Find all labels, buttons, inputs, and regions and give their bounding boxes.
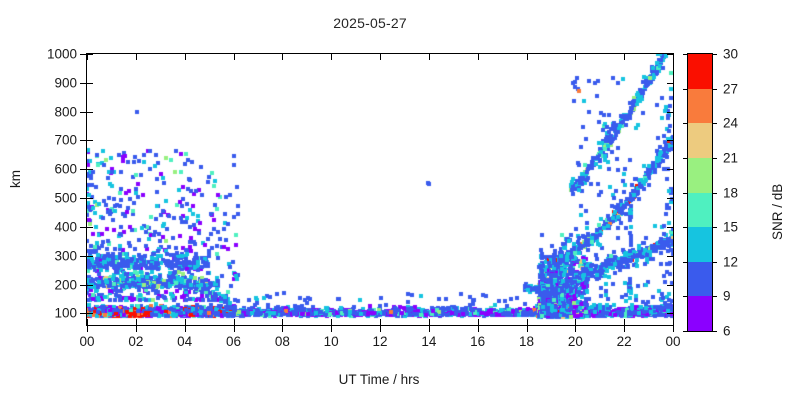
y-tick-1000	[80, 54, 87, 55]
x-tick-inner-5	[331, 319, 332, 325]
y-tick-label-600: 600	[54, 162, 77, 177]
colorbar-tick-left-12	[683, 262, 688, 263]
colorbar-label-6: 6	[723, 324, 731, 339]
colorbar-band-9-12	[688, 262, 712, 297]
y-tick-400	[80, 227, 87, 228]
y-tick-label-1000: 1000	[47, 47, 77, 62]
x-tick-inner-10	[575, 319, 576, 325]
y-tick-right-900	[667, 83, 673, 84]
x-tick-10	[575, 325, 576, 332]
x-tick-top-7	[429, 54, 430, 60]
x-tick-label-1: 02	[128, 334, 143, 349]
colorbar-band-18-21	[688, 158, 712, 193]
y-axis-title: km	[8, 170, 23, 188]
chart-title: 2025-05-27	[0, 15, 740, 31]
colorbar-band-6-9	[688, 296, 712, 331]
y-tick-600	[80, 169, 87, 170]
x-tick-top-6	[380, 54, 381, 60]
x-tick-top-9	[527, 54, 528, 60]
colorbar-label-24: 24	[723, 116, 738, 131]
y-tick-label-300: 300	[54, 248, 77, 263]
x-tick-5	[331, 325, 332, 332]
colorbar-tick-12	[712, 262, 717, 263]
y-tick-200	[80, 285, 87, 286]
y-tick-800	[80, 112, 87, 113]
x-tick-top-10	[575, 54, 576, 60]
colorbar-tick-left-15	[683, 227, 688, 228]
x-tick-11	[624, 325, 625, 332]
y-tick-right-200	[667, 285, 673, 286]
colorbar-tick-24	[712, 123, 717, 124]
y-tick-label-400: 400	[54, 219, 77, 234]
colorbar-tick-27	[712, 89, 717, 90]
x-tick-label-12: 00	[665, 334, 680, 349]
y-tick-label-800: 800	[54, 104, 77, 119]
colorbar-label-27: 27	[723, 81, 738, 96]
x-tick-inner-7	[429, 319, 430, 325]
colorbar-label-21: 21	[723, 150, 738, 165]
x-tick-top-11	[624, 54, 625, 60]
y-tick-inner-400	[87, 227, 93, 228]
x-tick-label-6: 12	[372, 334, 387, 349]
y-tick-inner-100	[87, 313, 93, 314]
x-axis-title: UT Time / hrs	[86, 372, 672, 387]
y-tick-right-300	[667, 256, 673, 257]
x-tick-inner-0	[87, 319, 88, 325]
x-tick-top-2	[185, 54, 186, 60]
y-tick-label-700: 700	[54, 133, 77, 148]
x-tick-label-2: 04	[177, 334, 192, 349]
colorbar-tick-6	[712, 331, 717, 332]
x-tick-0	[87, 325, 88, 332]
y-tick-500	[80, 198, 87, 199]
x-tick-4	[282, 325, 283, 332]
scatter-data-layer	[87, 54, 673, 325]
y-tick-100	[80, 313, 87, 314]
y-tick-inner-200	[87, 285, 93, 286]
colorbar-band-24-27	[688, 89, 712, 124]
x-tick-inner-11	[624, 319, 625, 325]
x-tick-label-11: 22	[617, 334, 632, 349]
x-tick-inner-9	[527, 319, 528, 325]
colorbar-title: SNR / dB	[770, 184, 785, 240]
y-tick-right-700	[667, 140, 673, 141]
x-tick-top-8	[478, 54, 479, 60]
x-tick-inner-12	[673, 319, 674, 325]
colorbar-label-12: 12	[723, 254, 738, 269]
colorbar-tick-15	[712, 227, 717, 228]
x-tick-label-7: 14	[421, 334, 436, 349]
y-tick-right-100	[667, 313, 673, 314]
y-tick-inner-800	[87, 112, 93, 113]
colorbar-label-15: 15	[723, 220, 738, 235]
x-tick-7	[429, 325, 430, 332]
colorbar-tick-21	[712, 158, 717, 159]
colorbar-band-12-15	[688, 227, 712, 262]
x-tick-inner-2	[185, 319, 186, 325]
colorbar-tick-left-6	[683, 331, 688, 332]
y-tick-right-600	[667, 169, 673, 170]
x-tick-2	[185, 325, 186, 332]
colorbar-band-21-24	[688, 123, 712, 158]
colorbar-label-18: 18	[723, 185, 738, 200]
colorbar-tick-9	[712, 296, 717, 297]
x-tick-9	[527, 325, 528, 332]
x-tick-top-1	[136, 54, 137, 60]
x-tick-top-3	[234, 54, 235, 60]
x-tick-6	[380, 325, 381, 332]
colorbar-tick-left-21	[683, 158, 688, 159]
plot-area: 1002003004005006007008009001000 00020406…	[86, 53, 674, 326]
range-time-intensity-figure: 2025-05-27 km UT Time / hrs 100200300400…	[0, 0, 800, 400]
y-tick-inner-600	[87, 169, 93, 170]
x-tick-label-8: 16	[470, 334, 485, 349]
x-tick-inner-6	[380, 319, 381, 325]
x-tick-1	[136, 325, 137, 332]
x-tick-inner-3	[234, 319, 235, 325]
x-tick-label-10: 20	[568, 334, 583, 349]
colorbar-label-30: 30	[723, 47, 738, 62]
x-tick-label-4: 08	[275, 334, 290, 349]
x-tick-12	[673, 325, 674, 332]
colorbar-tick-left-9	[683, 296, 688, 297]
y-tick-label-200: 200	[54, 277, 77, 292]
y-tick-label-100: 100	[54, 306, 77, 321]
x-tick-top-0	[87, 54, 88, 60]
colorbar-tick-18	[712, 193, 717, 194]
y-tick-300	[80, 256, 87, 257]
y-tick-700	[80, 140, 87, 141]
y-tick-right-500	[667, 198, 673, 199]
y-tick-label-500: 500	[54, 191, 77, 206]
colorbar-tick-left-30	[683, 54, 688, 55]
x-tick-label-9: 18	[519, 334, 534, 349]
colorbar-band-15-18	[688, 193, 712, 228]
y-tick-inner-700	[87, 140, 93, 141]
x-tick-inner-1	[136, 319, 137, 325]
snr-colorbar: 6912151821242730	[687, 53, 713, 332]
colorbar-tick-left-24	[683, 123, 688, 124]
x-tick-inner-4	[282, 319, 283, 325]
x-tick-8	[478, 325, 479, 332]
x-tick-inner-8	[478, 319, 479, 325]
y-tick-inner-300	[87, 256, 93, 257]
x-tick-top-5	[331, 54, 332, 60]
colorbar-label-9: 9	[723, 289, 731, 304]
y-tick-inner-900	[87, 83, 93, 84]
y-tick-900	[80, 83, 87, 84]
colorbar-band-27-30	[688, 54, 712, 89]
x-tick-top-4	[282, 54, 283, 60]
y-tick-right-800	[667, 112, 673, 113]
y-tick-inner-500	[87, 198, 93, 199]
y-tick-right-400	[667, 227, 673, 228]
colorbar-tick-30	[712, 54, 717, 55]
x-tick-label-5: 10	[324, 334, 339, 349]
x-tick-top-12	[673, 54, 674, 60]
x-tick-label-3: 06	[226, 334, 241, 349]
colorbar-tick-left-27	[683, 89, 688, 90]
y-tick-label-900: 900	[54, 75, 77, 90]
colorbar-tick-left-18	[683, 193, 688, 194]
x-tick-label-0: 00	[79, 334, 94, 349]
x-tick-3	[234, 325, 235, 332]
